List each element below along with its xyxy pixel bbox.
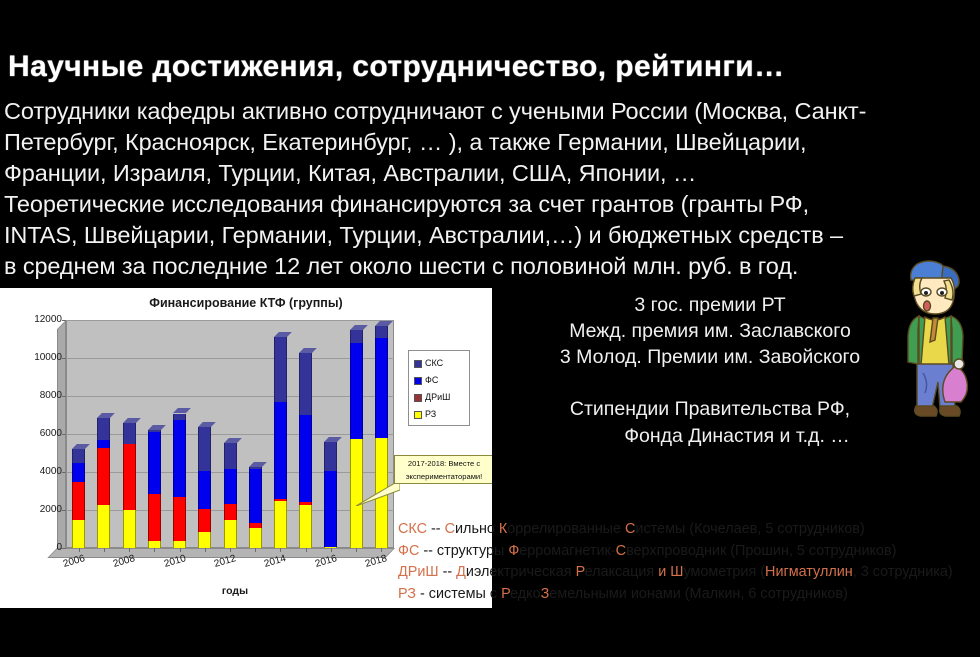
stipend-line-1: Стипендии Правительства РФ, [520, 396, 900, 423]
chart-bar-segment [173, 414, 186, 421]
chart-y-tick-mark [62, 358, 66, 359]
chart-bar-segment [72, 520, 85, 548]
intro-paragraph: Сотрудники кафедры активно сотрудничают … [4, 96, 976, 282]
glossary-text: и [658, 564, 670, 580]
chart-bar-segment [249, 469, 262, 523]
glossary-text: ФС [398, 543, 419, 559]
chart-x-tick-mark [331, 548, 332, 552]
bottom-black-bar [0, 608, 980, 657]
chart-bar-segment [274, 501, 287, 548]
glossary-text: Ф [508, 543, 519, 559]
slide-root: Научные достижения, сотрудничество, рейт… [0, 0, 980, 657]
chart-y-tick-mark [62, 548, 66, 549]
chart-bar-segment [72, 482, 85, 521]
intro-line-4: Теоретические исследования финансируются… [4, 189, 976, 220]
chart-gridline [66, 320, 394, 321]
chart-legend-swatch [414, 377, 422, 385]
glossary-block: СКС -- Сильно Коррелированные Системы (К… [398, 519, 980, 605]
chart-x-tick-mark [280, 548, 281, 552]
glossary-text: верхпроводник (Прошин, 5 сотрудников) [626, 543, 896, 559]
glossary-text: ерромагнетик- [519, 543, 615, 559]
glossary-text: С [616, 543, 626, 559]
chart-gridline [66, 434, 394, 435]
chart-bar-segment [299, 502, 312, 505]
chart-bar-segment [123, 510, 136, 548]
chart-bar-segment [224, 504, 237, 519]
chart-bar-segment [148, 432, 161, 494]
chart-x-tick-mark [154, 548, 155, 552]
glossary-line-3: ДРиШ -- Диэлектрическая Релаксация и Шум… [398, 562, 980, 584]
chart-bar-segment [224, 469, 237, 504]
chart-bar [249, 467, 262, 548]
chart-bar-segment [274, 402, 287, 499]
chart-bar [299, 353, 312, 548]
glossary-text: умометрия ( [683, 564, 765, 580]
chart-plot-area: 020004000600080001000012000 200620082010… [66, 320, 394, 548]
chart-bar-segment [97, 505, 110, 548]
chart-x-tick-mark [306, 548, 307, 552]
chart-legend-label: РЗ [425, 409, 436, 419]
glossary-text: Нигматуллин [765, 564, 853, 580]
chart-bar-segment [224, 520, 237, 549]
chart-bar [375, 326, 388, 548]
chart-y-tick-label: 0 [2, 542, 62, 553]
chart-bar [324, 442, 337, 548]
glossary-line-2: ФС -- структуры Ферромагнетик-Сверхпрово… [398, 541, 980, 563]
chart-legend-label: СКС [425, 358, 443, 368]
chart-bar-segment [148, 541, 161, 548]
chart-bar-segment [72, 463, 85, 482]
chart-y-tick-label: 12000 [2, 314, 62, 325]
glossary-text: оррелированные [507, 521, 625, 537]
chart-bar [173, 413, 186, 548]
chart-bar-segment [97, 440, 110, 449]
chart-bar-segment [198, 532, 211, 548]
chart-bar-segment [198, 509, 211, 532]
chart-bar-segment [148, 430, 161, 432]
chart-y-tick-mark [62, 396, 66, 397]
chart-x-tick-mark [255, 548, 256, 552]
chart-x-tick-mark [104, 548, 105, 552]
chart-bar-segment [249, 528, 262, 548]
chart-bar [274, 337, 287, 548]
chart-legend-swatch [414, 394, 422, 402]
glossary-line-4: РЗ - системы с РедкоЗемельными ионами (М… [398, 584, 980, 606]
intro-line-5: INTAS, Швейцарии, Германии, Турции, Авст… [4, 220, 976, 251]
chart-legend-swatch [414, 411, 422, 419]
chart-gridline [66, 358, 394, 359]
glossary-text: -- [427, 521, 445, 537]
stipend-line-2: Фонда Династия и т.д. … [520, 423, 900, 450]
chart-bar-segment [274, 499, 287, 502]
glossary-text: Р [576, 564, 585, 580]
chart-bar [198, 427, 211, 548]
chart-bar-segment [324, 442, 337, 471]
chart-legend-item: ДРиШ [414, 392, 450, 402]
chart-x-tick-mark [381, 548, 382, 552]
chart-bar-segment [375, 326, 388, 338]
chart-bar-segment [375, 338, 388, 438]
glossary-text: иэлектрическая [466, 564, 576, 580]
glossary-text: ильно [455, 521, 499, 537]
chart-bar-segment [148, 494, 161, 542]
award-line-1: 3 гос. премии РТ [520, 292, 900, 318]
chart-bar [97, 418, 110, 548]
chart-x-tick-mark [79, 548, 80, 552]
callout-line-1: 2017-2018: Вместе с [395, 456, 492, 469]
chart-bar-segment [97, 448, 110, 505]
glossary-text: С [625, 521, 635, 537]
glossary-text: Р [501, 586, 510, 602]
glossary-text: , 3 сотрудника) [853, 564, 953, 580]
intro-line-2: Петербург, Красноярск, Екатеринбург, … )… [4, 127, 976, 158]
chart-bar-segment [123, 444, 136, 511]
chart-bar-segment [249, 467, 262, 469]
chart-bar-segment [350, 343, 363, 439]
chart-y-tick-mark [62, 510, 66, 511]
glossary-text: -- [439, 564, 457, 580]
chart-bar-segment [97, 418, 110, 440]
chart-bar-segment [173, 420, 186, 497]
chart-x-axis-label: годы [60, 585, 410, 597]
chart-legend-item: РЗ [414, 409, 436, 419]
glossary-text: СКС [398, 521, 427, 537]
chart-bar-segment [299, 353, 312, 415]
glossary-text: - системы с [416, 586, 501, 602]
chart-y-tick-label: 4000 [2, 466, 62, 477]
chart-bar-segment [198, 471, 211, 509]
chart-bar [123, 423, 136, 548]
chart-y-tick-mark [62, 434, 66, 435]
chart-legend: СКСФСДРиШРЗ [408, 350, 470, 426]
chart-y-tick-label: 2000 [2, 504, 62, 515]
callout-line-2: экспериментаторами! [395, 469, 492, 482]
glossary-text: З [541, 586, 550, 602]
chart-y-tick-mark [62, 472, 66, 473]
chart-bar-segment [350, 330, 363, 342]
chart-x-tick-mark [180, 548, 181, 552]
glossary-text: -- структуры [419, 543, 508, 559]
glossary-text: елаксация [585, 564, 659, 580]
intro-line-6: в среднем за последние 12 лет около шест… [4, 251, 976, 282]
chart-bar-segment [198, 427, 211, 471]
chart-legend-item: ФС [414, 375, 438, 385]
chart-bar-segment [173, 497, 186, 541]
chart-bar-segment [123, 423, 136, 444]
awards-block-2: Стипендии Правительства РФ,Фонда Династи… [520, 396, 900, 450]
intro-line-3: Франции, Израиля, Турции, Китая, Австрал… [4, 158, 976, 189]
award-line-3: 3 Молод. Премии им. Завойского [520, 344, 900, 370]
glossary-text: емельными ионами (Малкин, 6 сотрудников) [549, 586, 848, 602]
cartoon-boy-icon [893, 248, 977, 428]
chart-x-tick-mark [205, 548, 206, 552]
award-line-2: Межд. премия им. Заславского [520, 318, 900, 344]
page-title: Научные достижения, сотрудничество, рейт… [8, 50, 972, 84]
chart-legend-label: ДРиШ [425, 392, 450, 402]
chart-y-tick-label: 6000 [2, 428, 62, 439]
glossary-line-1: СКС -- Сильно Коррелированные Системы (К… [398, 519, 980, 541]
chart-x-tick-mark [230, 548, 231, 552]
glossary-text: Ш [670, 564, 683, 580]
chart-bar [148, 430, 161, 548]
chart-bar [224, 443, 237, 548]
chart-legend-item: СКС [414, 358, 443, 368]
chart-title: Финансирование КТФ (группы) [0, 296, 492, 310]
glossary-text: едко [510, 586, 541, 602]
glossary-text: ДРиШ [398, 564, 439, 580]
chart-bar [350, 330, 363, 548]
chart-legend-swatch [414, 360, 422, 368]
chart-annotation-callout: 2017-2018: Вместе с экспериментаторами! [394, 455, 492, 484]
chart-bar-segment [224, 443, 237, 470]
chart-x-tick-mark [129, 548, 130, 552]
chart-bar [72, 449, 85, 548]
chart-bar-segment [299, 505, 312, 548]
chart-bar-segment [299, 415, 312, 502]
chart-bar-segment [173, 541, 186, 548]
chart-bar-segment [324, 471, 337, 547]
chart-gridline [66, 396, 394, 397]
awards-block-1: 3 гос. премии РТМежд. премия им. Заславс… [520, 292, 900, 370]
intro-line-1: Сотрудники кафедры активно сотрудничают … [4, 96, 976, 127]
chart-x-tick-mark [356, 548, 357, 552]
chart-y-tick-mark [62, 320, 66, 321]
chart-bar-segment [72, 449, 85, 462]
chart-bar-segment [274, 337, 287, 402]
chart-bar-segment [249, 523, 262, 528]
chart-y-tick-label: 8000 [2, 390, 62, 401]
glossary-text: С [445, 521, 455, 537]
glossary-text: истемы (Кочелаев, 5 сотрудников) [635, 521, 864, 537]
chart-y-tick-label: 10000 [2, 352, 62, 363]
chart-legend-label: ФС [425, 375, 438, 385]
glossary-text: Д [456, 564, 466, 580]
glossary-text: РЗ [398, 586, 416, 602]
